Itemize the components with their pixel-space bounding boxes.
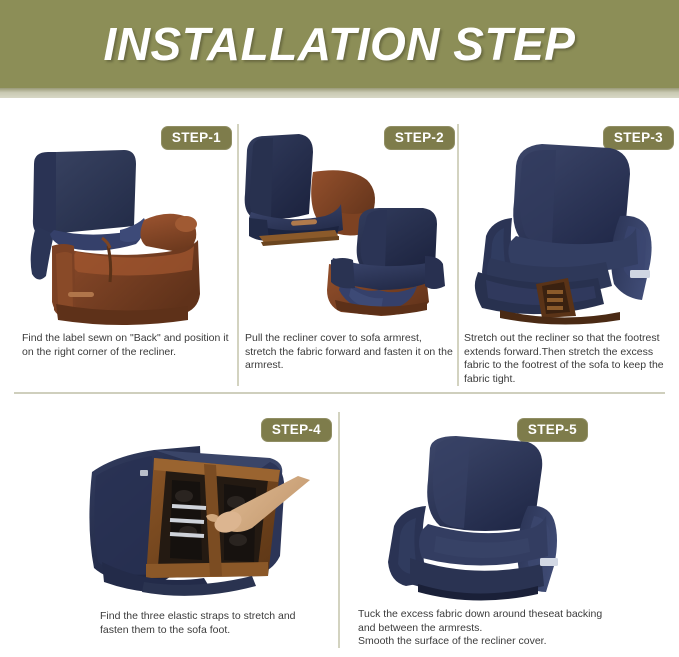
step-illustration-3 — [464, 132, 666, 328]
step-panel-4: STEP-4 — [70, 408, 332, 650]
column-divider-1 — [237, 124, 239, 386]
step-caption-5: Tuck the excess fabric down around these… — [358, 608, 606, 649]
step-illustration-1 — [16, 134, 222, 330]
step-caption-1: Find the label sewn on "Back" and positi… — [22, 332, 230, 359]
step-illustration-4 — [84, 436, 312, 606]
step-caption-3: Stretch out the recliner so that the foo… — [464, 332, 670, 386]
step-illustration-5 — [352, 434, 580, 606]
step-illustration-2 — [243, 132, 443, 328]
column-divider-3 — [338, 412, 340, 648]
step-caption-4: Find the three elastic straps to stretch… — [100, 610, 320, 637]
page-header: INSTALLATION STEP — [0, 0, 679, 88]
row-divider — [14, 392, 665, 394]
step-panel-3: STEP-3 — [462, 110, 674, 390]
step-panel-2: STEP-2 — [243, 110, 453, 390]
step-panel-1: STEP-1 — [10, 110, 234, 390]
page-title: INSTALLATION STEP — [104, 17, 576, 71]
step-caption-2: Pull the recliner cover to sofa armrest,… — [245, 332, 455, 373]
header-underline-band — [0, 88, 679, 98]
column-divider-2 — [457, 124, 459, 386]
step-panel-5: STEP-5 — [344, 408, 606, 650]
